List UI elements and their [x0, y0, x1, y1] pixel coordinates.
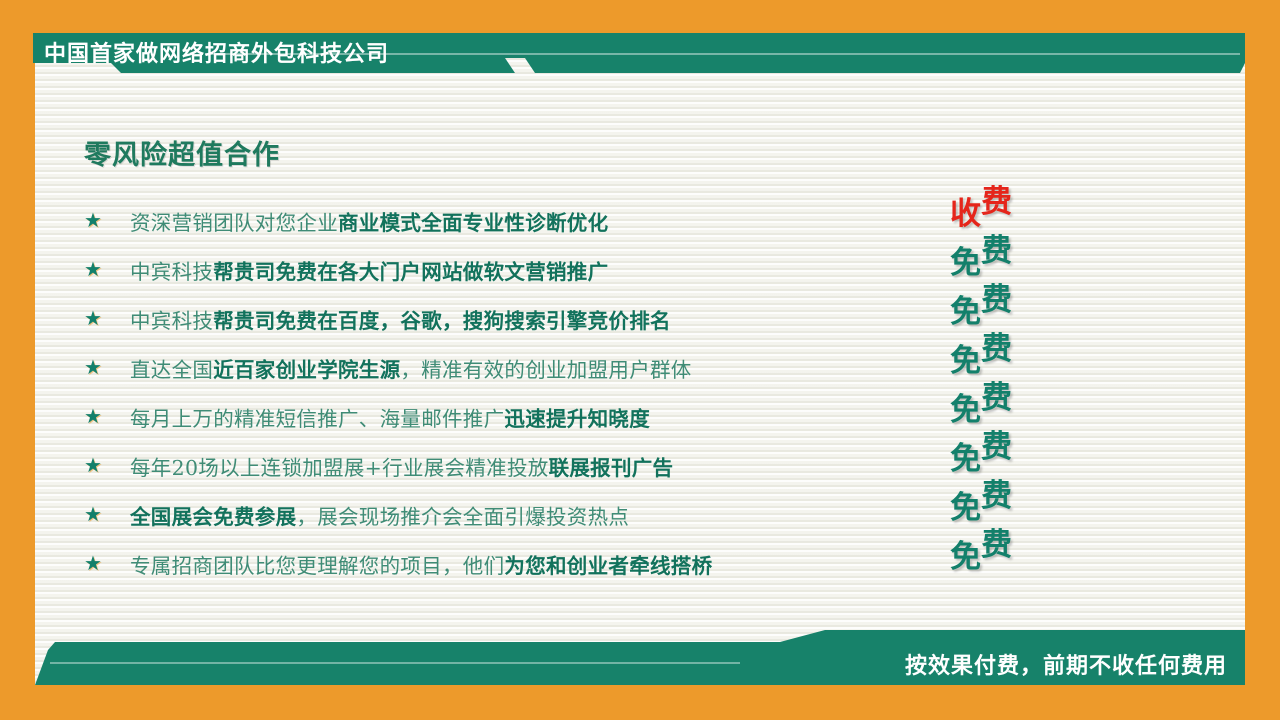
price-badge: 免费	[950, 339, 1012, 370]
price-char: 免	[950, 248, 981, 279]
price-badge: 免费	[950, 388, 1012, 419]
benefit-text-emphasis: 全国展会免费参展	[130, 505, 296, 529]
star-icon: ★	[84, 554, 130, 574]
price-char: 免	[950, 297, 981, 328]
star-icon: ★	[84, 505, 130, 525]
price-char: 费	[981, 530, 1012, 561]
benefit-text-normal: 资深营销团队对您企业	[130, 211, 338, 235]
benefit-row: ★专属招商团队比您更理解您的项目，他们为您和创业者牵线搭桥	[84, 539, 914, 588]
price-char: 费	[981, 432, 1012, 463]
benefit-text-emphasis: 帮贵司免费在各大门户网站做软文营销推广	[213, 260, 608, 284]
benefit-text: 直达全国近百家创业学院生源，精准有效的创业加盟用户群体	[130, 353, 692, 383]
footer-text: 按效果付费，前期不收任何费用	[905, 648, 1227, 680]
benefit-text-normal: 中宾科技	[130, 309, 213, 333]
benefit-text: 全国展会免费参展，展会现场推介会全面引爆投资热点	[130, 500, 629, 530]
price-badge: 免费	[950, 437, 1012, 468]
price-char: 免	[950, 444, 981, 475]
price-column: 收费免费免费免费免费免费免费免费	[950, 190, 1070, 582]
price-row: 免费	[950, 239, 1070, 288]
benefit-text-tail: ，精准有效的创业加盟用户群体	[400, 358, 691, 382]
price-char: 费	[981, 285, 1012, 316]
benefit-text: 每年20场以上连锁加盟展+行业展会精准投放联展报刊广告	[130, 451, 673, 481]
price-row: 免费	[950, 435, 1070, 484]
benefit-text: 专属招商团队比您更理解您的项目，他们为您和创业者牵线搭桥	[130, 549, 712, 579]
benefit-text-emphasis: 迅速提升知晓度	[504, 407, 650, 431]
benefit-text-normal: 专属招商团队比您更理解您的项目，他们	[130, 554, 504, 578]
price-row: 免费	[950, 337, 1070, 386]
price-badge: 收费	[950, 192, 1012, 223]
benefit-text-emphasis: 商业模式全面专业性诊断优化	[338, 211, 608, 235]
benefit-row: ★每年20场以上连锁加盟展+行业展会精准投放联展报刊广告	[84, 441, 914, 490]
benefit-text: 资深营销团队对您企业商业模式全面专业性诊断优化	[130, 206, 608, 236]
header-title: 中国首家做网络招商外包科技公司	[44, 36, 389, 68]
price-row: 收费	[950, 190, 1070, 239]
price-char: 费	[981, 187, 1012, 218]
page-title: 零风险超值合作	[84, 133, 280, 172]
benefit-text-tail: ，展会现场推介会全面引爆投资热点	[296, 505, 629, 529]
price-row: 免费	[950, 533, 1070, 582]
benefit-row: ★资深营销团队对您企业商业模式全面专业性诊断优化	[84, 196, 914, 245]
benefit-row: ★全国展会免费参展，展会现场推介会全面引爆投资热点	[84, 490, 914, 539]
price-row: 免费	[950, 386, 1070, 435]
price-char: 费	[981, 481, 1012, 512]
star-icon: ★	[84, 260, 130, 280]
price-char: 费	[981, 236, 1012, 267]
slide-root: 中国首家做网络招商外包科技公司 零风险超值合作 ★资深营销团队对您企业商业模式全…	[0, 0, 1280, 720]
star-icon: ★	[84, 358, 130, 378]
star-icon: ★	[84, 456, 130, 476]
benefit-text: 中宾科技帮贵司免费在各大门户网站做软文营销推广	[130, 255, 608, 285]
price-char: 免	[950, 395, 981, 426]
price-badge: 免费	[950, 486, 1012, 517]
price-char: 免	[950, 346, 981, 377]
benefit-text: 每月上万的精准短信推广、海量邮件推广迅速提升知晓度	[130, 402, 650, 432]
footer-hairline	[50, 662, 740, 664]
star-icon: ★	[84, 309, 130, 329]
star-icon: ★	[84, 211, 130, 231]
benefit-list: ★资深营销团队对您企业商业模式全面专业性诊断优化★中宾科技帮贵司免费在各大门户网…	[84, 196, 914, 588]
benefit-text-normal: 每月上万的精准短信推广、海量邮件推广	[130, 407, 504, 431]
price-char: 收	[950, 199, 981, 230]
benefit-text-normal: 直达全国	[130, 358, 213, 382]
benefit-text-emphasis: 联展报刊广告	[549, 456, 674, 480]
benefit-row: ★中宾科技帮贵司免费在百度，谷歌，搜狗搜索引擎竞价排名	[84, 294, 914, 343]
price-badge: 免费	[950, 535, 1012, 566]
benefit-text: 中宾科技帮贵司免费在百度，谷歌，搜狗搜索引擎竞价排名	[130, 304, 671, 334]
price-badge: 免费	[950, 241, 1012, 272]
benefit-text-normal: 中宾科技	[130, 260, 213, 284]
benefit-row: ★每月上万的精准短信推广、海量邮件推广迅速提升知晓度	[84, 392, 914, 441]
benefit-text-emphasis: 帮贵司免费在百度，谷歌，搜狗搜索引擎竞价排名	[213, 309, 671, 333]
price-char: 费	[981, 334, 1012, 365]
price-char: 费	[981, 383, 1012, 414]
price-row: 免费	[950, 484, 1070, 533]
benefit-text-emphasis: 为您和创业者牵线搭桥	[504, 554, 712, 578]
benefit-row: ★中宾科技帮贵司免费在各大门户网站做软文营销推广	[84, 245, 914, 294]
benefit-text-normal: 每年20场以上连锁加盟展+行业展会精准投放	[130, 456, 549, 480]
price-char: 免	[950, 493, 981, 524]
price-char: 免	[950, 542, 981, 573]
benefit-row: ★直达全国近百家创业学院生源，精准有效的创业加盟用户群体	[84, 343, 914, 392]
benefit-text-emphasis: 近百家创业学院生源	[213, 358, 400, 382]
price-row: 免费	[950, 288, 1070, 337]
price-badge: 免费	[950, 290, 1012, 321]
star-icon: ★	[84, 407, 130, 427]
